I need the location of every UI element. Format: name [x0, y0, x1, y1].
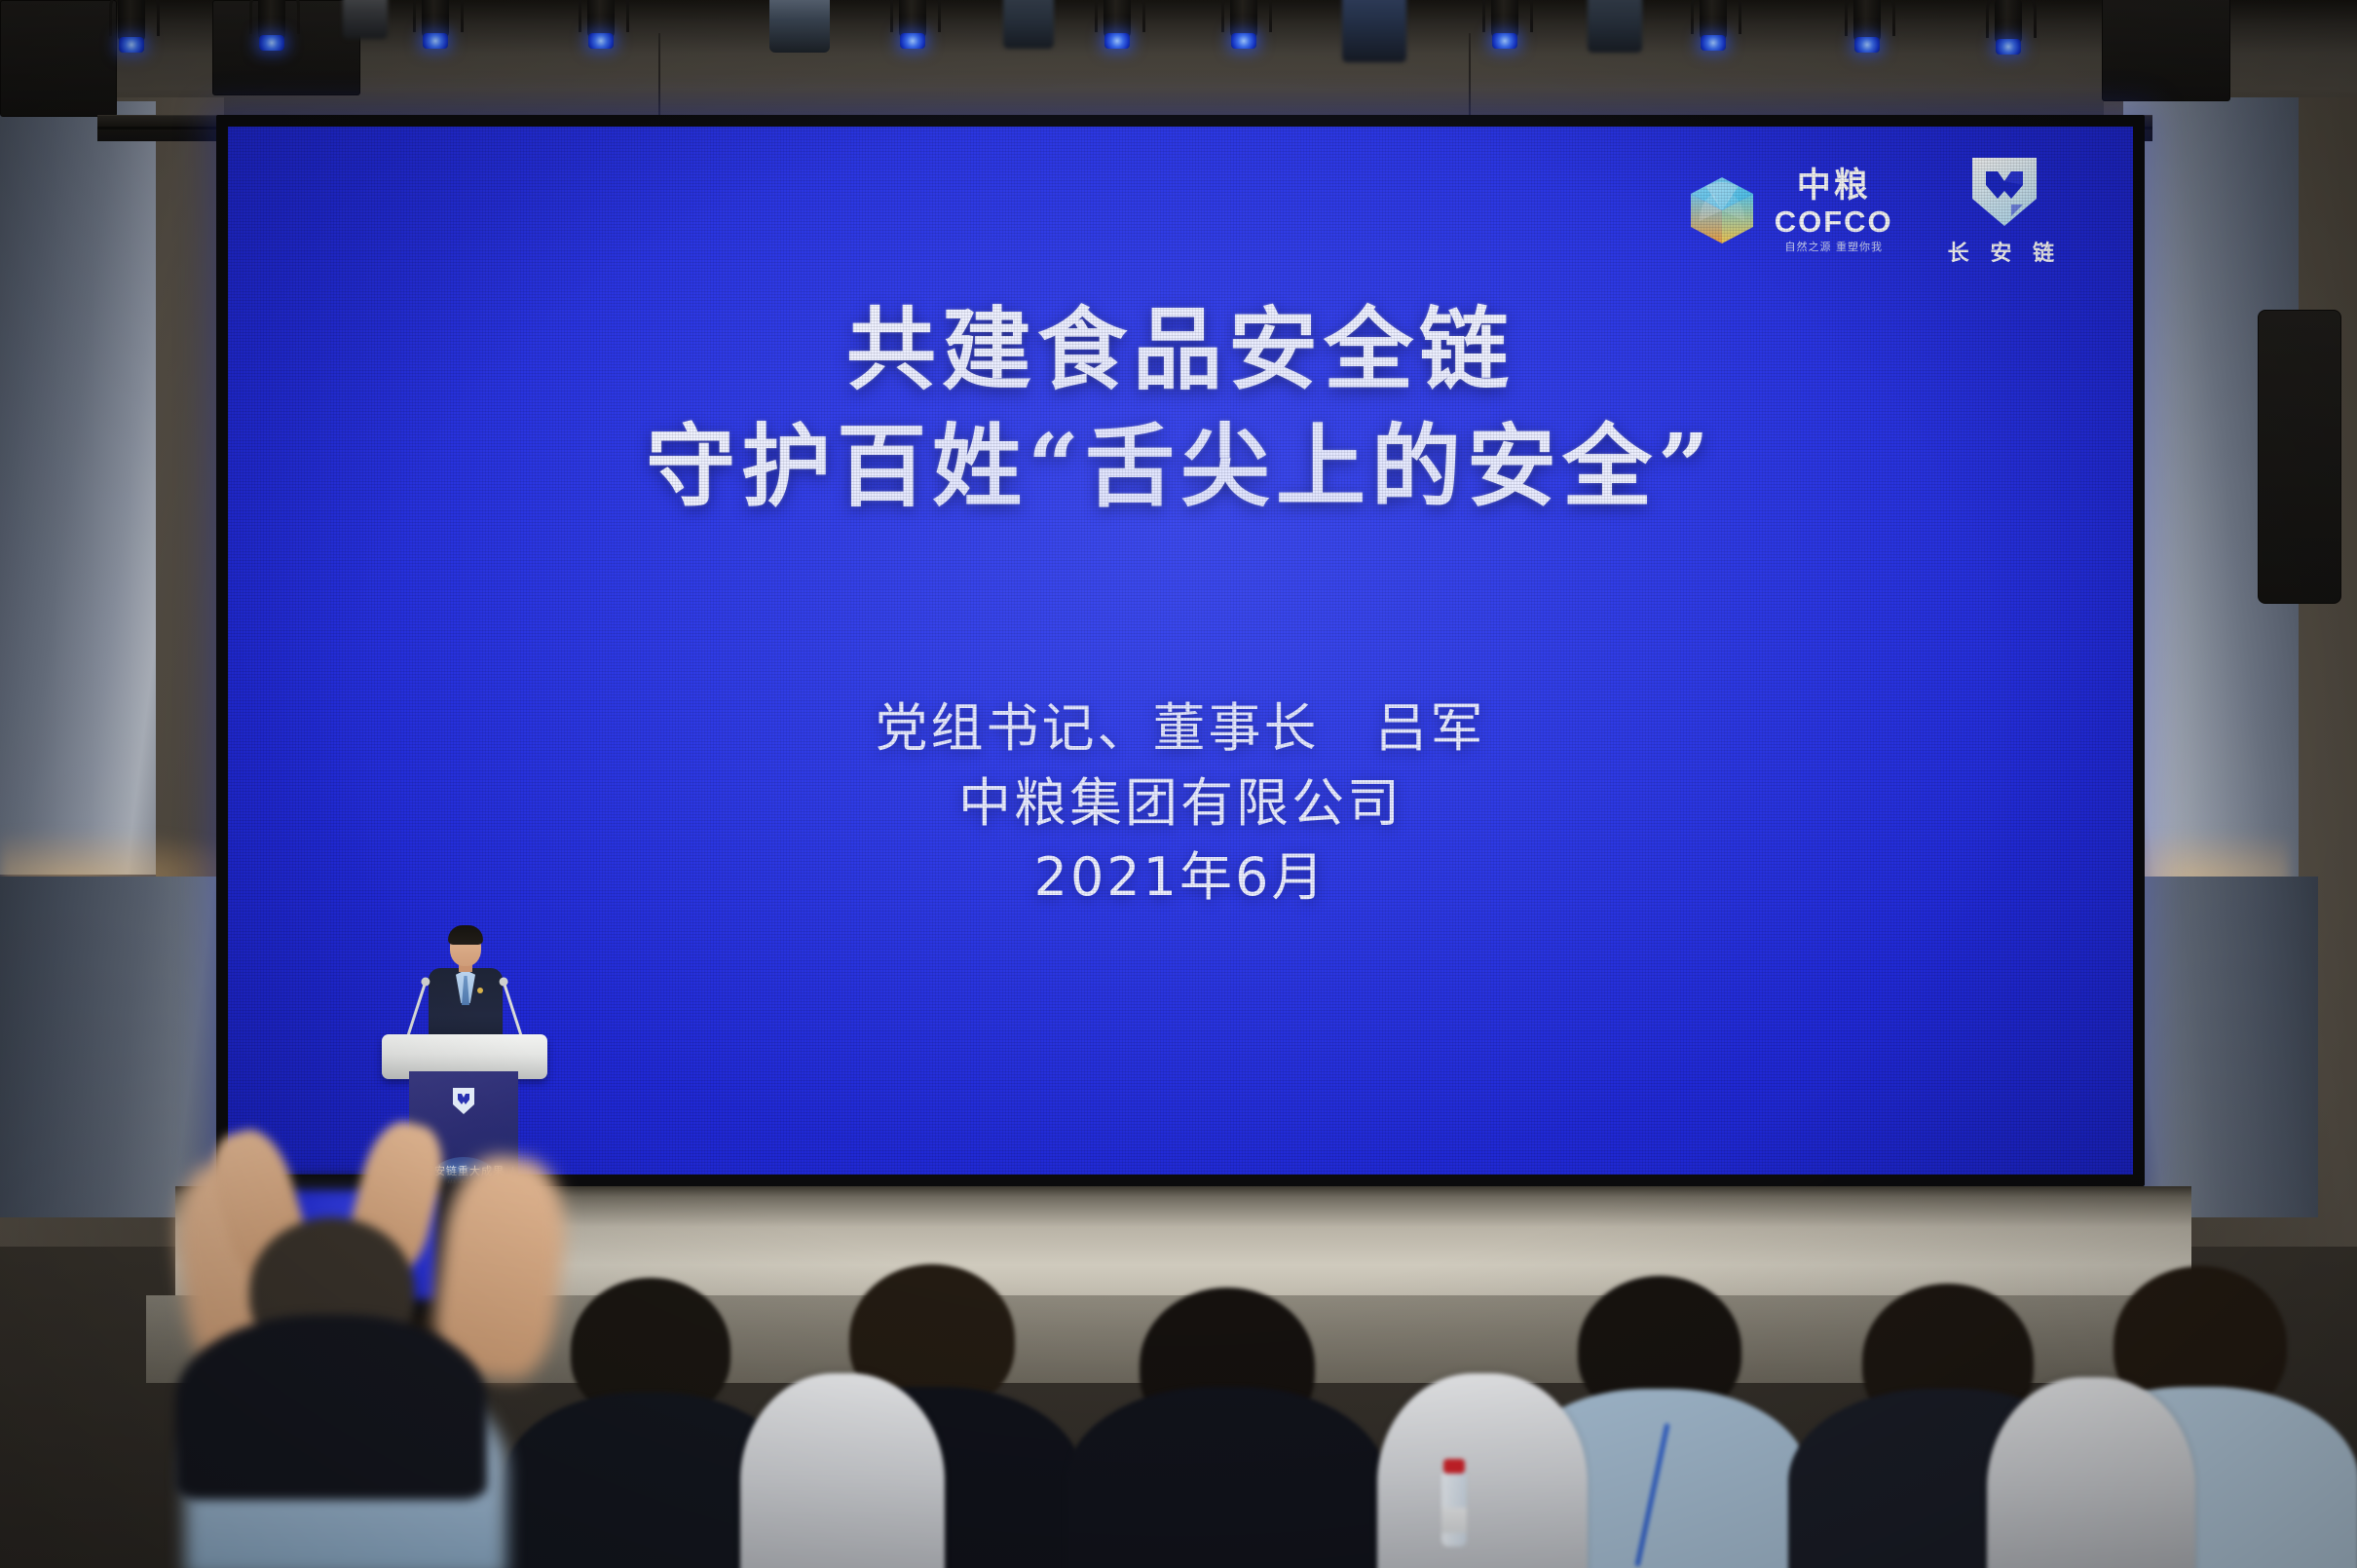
moving-head-light-icon [769, 0, 830, 53]
par-can-light-icon [1101, 0, 1134, 55]
light-lens-icon [1996, 39, 2021, 55]
cofco-tagline: 自然之源 重塑你我 [1784, 242, 1883, 252]
conference-hall-photo: 中粮 COFCO 自然之源 重塑你我 [0, 0, 2357, 1568]
audience-seating [0, 1062, 2357, 1568]
slide-subtitle: 党组书记、董事长 吕军 中粮集团有限公司 2021年6月 [228, 691, 2133, 915]
par-can-light-icon [584, 0, 617, 55]
microphone-icon [503, 983, 523, 1037]
slide-title: 共建食品安全链 守护百姓“舌尖上的安全” [228, 292, 2133, 525]
light-lens-icon [1701, 35, 1726, 51]
water-bottle [1441, 1471, 1467, 1547]
par-can-light-icon [255, 0, 288, 56]
microphone-icon [406, 983, 427, 1037]
pa-speaker-right-top [2102, 0, 2230, 101]
speaker-presenter [427, 925, 505, 1052]
cofco-name-en: COFCO [1775, 206, 1893, 237]
audience-chair-back [1377, 1373, 1588, 1568]
par-can-light-icon [419, 0, 452, 55]
light-lens-icon [1104, 33, 1130, 49]
changan-chain-name: 长 安 链 [1948, 236, 2061, 267]
lapel-pin-icon [477, 988, 483, 993]
moving-head-light-icon [1342, 0, 1406, 62]
par-can-light-icon [1227, 0, 1260, 55]
safety-cable [658, 33, 660, 117]
par-can-light-icon [1488, 0, 1521, 55]
moving-head-light-icon [343, 0, 388, 39]
pa-speaker-right-hang [2258, 310, 2341, 604]
foreground-shoulders [175, 1315, 487, 1500]
wall-panel-column-left [0, 101, 156, 880]
light-lens-icon [1231, 33, 1256, 49]
slide-subtitle-line-2: 中粮集团有限公司 [228, 766, 2133, 841]
light-lens-icon [1854, 37, 1880, 53]
audience-chair-back [740, 1373, 945, 1568]
cofco-cube-icon [1686, 174, 1758, 246]
slide-subtitle-line-3: 2021年6月 [228, 840, 2133, 915]
slide-title-line-1: 共建食品安全链 [228, 292, 2133, 409]
cofco-name-cn: 中粮 [1797, 169, 1871, 204]
light-lens-icon [900, 33, 925, 49]
light-lens-icon [259, 35, 284, 51]
audience-shoulders [1066, 1387, 1387, 1568]
pa-speaker-left-top [0, 0, 117, 117]
light-lens-icon [1492, 33, 1517, 49]
cofco-wordmark: 中粮 COFCO 自然之源 重塑你我 [1775, 169, 1893, 252]
par-can-light-icon [896, 0, 929, 55]
audience-chair-back [1987, 1377, 2195, 1568]
bottle-cap-icon [1443, 1459, 1465, 1474]
light-lens-icon [588, 33, 614, 49]
light-lens-icon [119, 37, 144, 53]
cofco-logo-lockup: 中粮 COFCO 自然之源 重塑你我 [1686, 169, 1893, 252]
changan-chain-shield-icon [1965, 154, 2043, 230]
changan-chain-logo-lockup: 长 安 链 [1948, 154, 2061, 267]
bottle-label [1441, 1508, 1467, 1533]
safety-cable [1469, 33, 1471, 119]
slide-logo-row: 中粮 COFCO 自然之源 重塑你我 [1686, 154, 2061, 267]
speaker-hair [448, 925, 483, 945]
par-can-light-icon [115, 0, 148, 58]
moving-head-light-icon [1003, 0, 1054, 49]
par-can-light-icon [1992, 0, 2025, 60]
moving-head-light-icon [1588, 0, 1642, 53]
light-lens-icon [423, 33, 448, 49]
par-can-light-icon [1697, 0, 1730, 56]
slide-subtitle-line-1: 党组书记、董事长 吕军 [228, 691, 2133, 766]
slide-title-line-2: 守护百姓“舌尖上的安全” [228, 409, 2133, 526]
par-can-light-icon [1851, 0, 1884, 58]
